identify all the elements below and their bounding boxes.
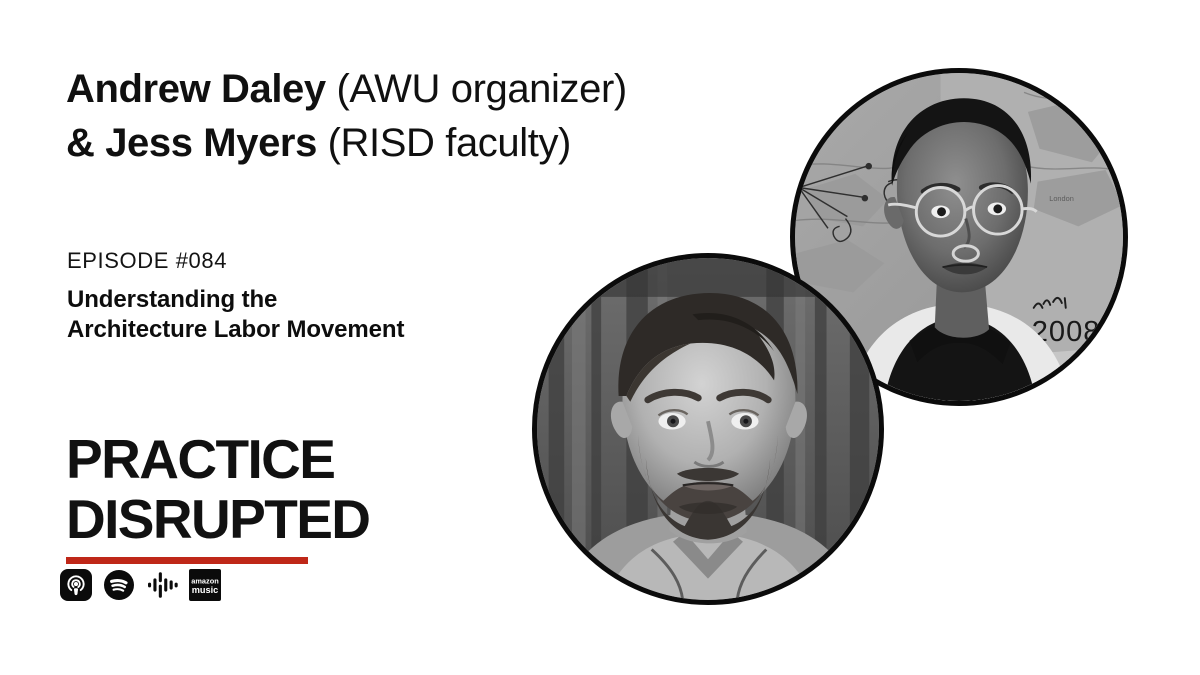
guest-role-1: (AWU organizer)	[336, 67, 626, 111]
wordmark-accent-rule	[66, 557, 308, 564]
andrew-daley-photo	[537, 258, 879, 600]
guest-role-2: (RISD faculty)	[328, 121, 571, 165]
amazon-music-icon[interactable]: amazon music	[189, 569, 221, 601]
google-podcasts-icon[interactable]	[146, 569, 178, 601]
andrew-daley-portrait	[532, 253, 884, 605]
guest-name-2: & Jess Myers	[66, 121, 328, 165]
guest-name-1: Andrew Daley	[66, 67, 336, 111]
amazon-music-word-bottom: music	[192, 585, 219, 595]
episode-title-line-1: Understanding the	[67, 285, 537, 315]
guest-line-2: & Jess Myers (RISD faculty)	[66, 116, 726, 170]
episode-title: Understanding the Architecture Labor Mov…	[67, 285, 537, 345]
wordmark-line-disrupted: DISRUPTED	[66, 492, 369, 547]
guest-line-1: Andrew Daley (AWU organizer)	[66, 62, 726, 116]
brand-wordmark: PRACTICE DISRUPTED	[66, 432, 369, 564]
spotify-icon[interactable]	[103, 569, 135, 601]
apple-podcasts-icon[interactable]	[60, 569, 92, 601]
guest-heading: Andrew Daley (AWU organizer) & Jess Myer…	[66, 62, 726, 170]
episode-title-line-2: Architecture Labor Movement	[67, 315, 537, 345]
map-label-london: London	[1049, 194, 1074, 203]
episode-block: EPISODE #084 Understanding the Architect…	[67, 246, 537, 345]
episode-promo-card: Andrew Daley (AWU organizer) & Jess Myer…	[0, 0, 1200, 675]
episode-number: EPISODE #084	[67, 246, 537, 276]
wordmark-line-practice: PRACTICE	[66, 432, 369, 487]
platform-badges: amazon music	[60, 569, 221, 601]
